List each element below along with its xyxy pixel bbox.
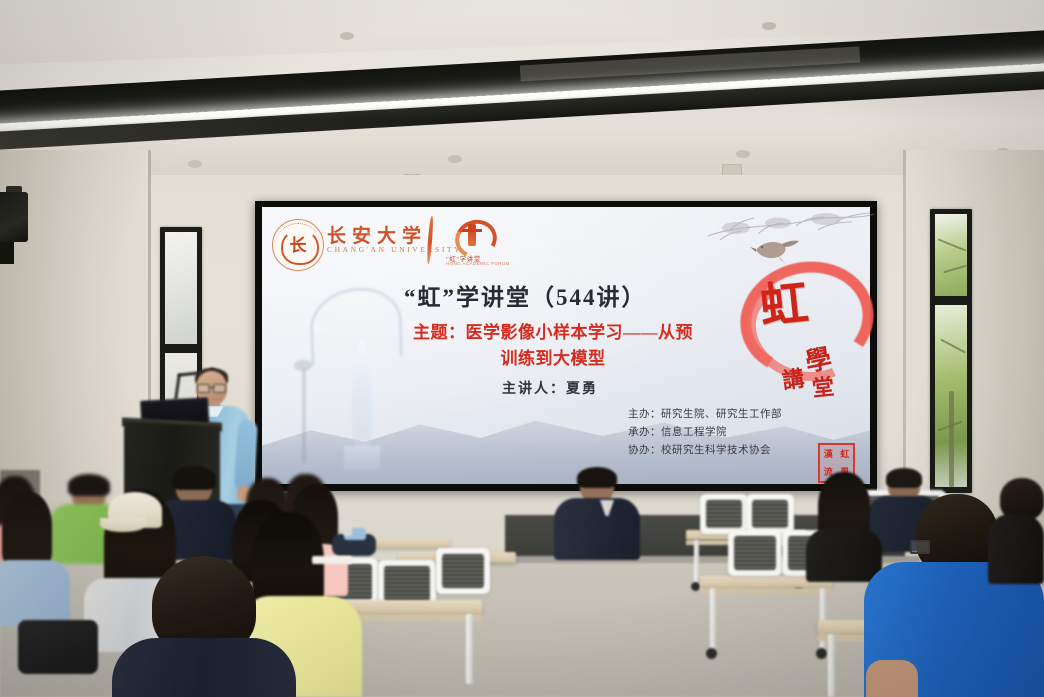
stamp-char-1: 漢 [824, 450, 833, 459]
forum-logo-glyph [468, 224, 476, 246]
emblem-character: 虹 [758, 280, 811, 333]
chair-backrest [728, 530, 782, 576]
forum-logo-crossbar [462, 229, 482, 232]
logo-glyph: 长 [287, 234, 309, 258]
person-torso [806, 528, 882, 582]
downlight-icon [340, 32, 354, 40]
ceiling [0, 0, 1044, 200]
person-arm [866, 660, 918, 697]
slide-organizers: 主办：研究生院、研究生工作部 承办：信息工程学院 协办：校研究生科学技术协会 [628, 406, 838, 460]
university-name-en: CHANG'AN UNIVERSITY [327, 245, 462, 254]
slide-speaker: 主讲人：夏勇 [455, 378, 645, 398]
chair-backrest [746, 494, 794, 534]
desk-leg [466, 614, 473, 684]
person-torso [554, 498, 640, 560]
person-hair [2, 492, 52, 566]
desk-caster [706, 648, 717, 659]
slide-subject-line-1: 主题：医学影像小样本学习——从预 [368, 320, 738, 346]
calligraphy-jiang: 講 [780, 361, 806, 396]
chair[interactable] [728, 530, 776, 570]
paper-sheet [312, 556, 352, 564]
university-logo-seal: 长 [272, 219, 324, 271]
desk-leg [710, 588, 716, 652]
desk-edge [700, 588, 832, 594]
chair[interactable] [378, 560, 430, 602]
backpack-icon [18, 620, 98, 674]
desk-caster [816, 648, 827, 659]
calligraphy-tang: 堂 [810, 369, 835, 403]
tree-trunk [949, 391, 954, 487]
person-torso [988, 514, 1044, 584]
chair[interactable] [436, 548, 484, 588]
forum-logo [448, 220, 496, 254]
window-pane-upper [165, 232, 197, 344]
window-pane-upper [935, 214, 967, 296]
cap-brim [100, 518, 146, 532]
person-hair [577, 467, 617, 488]
chair-mesh [706, 500, 742, 528]
desk-leg [694, 540, 699, 584]
water-bottle-icon [343, 518, 352, 536]
chair-mesh [752, 500, 788, 528]
desk-caster [691, 582, 700, 591]
chair-backrest [436, 548, 490, 594]
lecture-hall-photo: 长 长安大学 CHANG'AN UNIVERSITY "虹"学讲堂 HONG A… [0, 0, 1044, 697]
forum-logo-subcaption: HONG ACADEMIC FORUM [446, 261, 510, 266]
chair-mesh [384, 566, 430, 602]
university-name-cn: 长安大学 [327, 221, 427, 248]
organizer-coordinator: 承办：信息工程学院 [628, 424, 838, 442]
organizer-host: 主办：研究生院、研究生工作部 [628, 406, 838, 424]
glasses-lens-right [213, 384, 226, 393]
organizer-cohost: 协办：校研究生科学技术协会 [628, 442, 838, 460]
slide-subject: 主题：医学影像小样本学习——从预 训练到大模型 [368, 320, 738, 372]
person-hair [886, 468, 922, 488]
tree-branch [943, 265, 967, 274]
person-hair [172, 466, 216, 490]
chair-mesh [734, 536, 776, 570]
slide-title: “虹”学讲堂（544讲） [404, 278, 734, 312]
chair[interactable] [700, 494, 742, 528]
person-hair [68, 474, 110, 496]
downlight-icon [762, 22, 776, 30]
glasses-icon [910, 540, 930, 554]
stamp-char-2: 虹 [840, 450, 849, 459]
speaker-icon [0, 192, 28, 242]
window-icon [930, 209, 972, 493]
person-torso [0, 560, 70, 626]
window-mullion [930, 296, 972, 305]
window-mullion [160, 344, 202, 353]
glasses-icon [197, 384, 226, 391]
tree-branch [940, 339, 966, 354]
slide-subject-line-2: 训练到大模型 [368, 346, 738, 372]
tree-branch [938, 238, 967, 251]
chair[interactable] [746, 494, 788, 528]
chair-backrest [700, 494, 748, 534]
desk-leg [828, 634, 835, 697]
speaker-icon-lower [0, 242, 14, 264]
window-pane-lower [935, 305, 967, 487]
glasses-lens-left [197, 384, 210, 393]
person-torso [112, 638, 296, 697]
chair-mesh [442, 554, 484, 588]
